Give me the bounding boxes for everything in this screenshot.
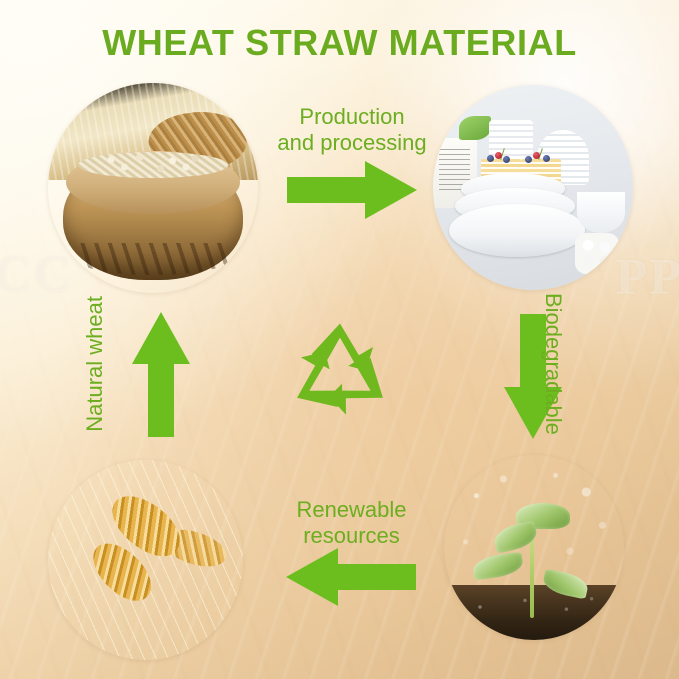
raspberry-icon: [533, 152, 540, 159]
blueberry-icon: [503, 156, 510, 163]
natural-wheat-arrow-up-icon: [132, 312, 190, 442]
production-arrow-right-icon: [287, 161, 417, 224]
raspberry-icon: [495, 152, 502, 159]
page-title: WHEAT STRAW MATERIAL: [0, 22, 679, 64]
label-natural-wheat: Natural wheat: [82, 296, 108, 432]
photo-wheat-field: [48, 460, 243, 660]
label-renewable-resources: Renewable resources: [274, 497, 429, 549]
renewable-arrow-left-icon: [286, 548, 416, 611]
blueberry-icon: [525, 156, 532, 163]
bowl-rim: [66, 151, 239, 214]
green-leaf-garnish-icon: [459, 116, 491, 141]
label-production-and-processing: Production and processing: [272, 104, 432, 156]
blueberry-icon: [487, 155, 494, 162]
photo-natural-wheat-grains: [48, 83, 258, 293]
plate-stack-bottom: [449, 204, 585, 257]
label-biodegradable: Biodegradable: [540, 293, 566, 435]
bubble-candle: [575, 233, 619, 274]
wooden-bowl: [63, 154, 244, 280]
photo-finished-dishes: [433, 85, 633, 290]
bowl-carving: [77, 243, 229, 276]
white-bowl: [577, 192, 625, 233]
blueberry-icon: [543, 155, 550, 162]
recycle-icon: [281, 314, 399, 437]
wheat-grains: [78, 152, 227, 178]
photo-biodegradable-sprout: [444, 455, 624, 640]
wheat-straw-material-infographic: CC PP WHEAT STRAW MATERIAL: [0, 0, 679, 679]
